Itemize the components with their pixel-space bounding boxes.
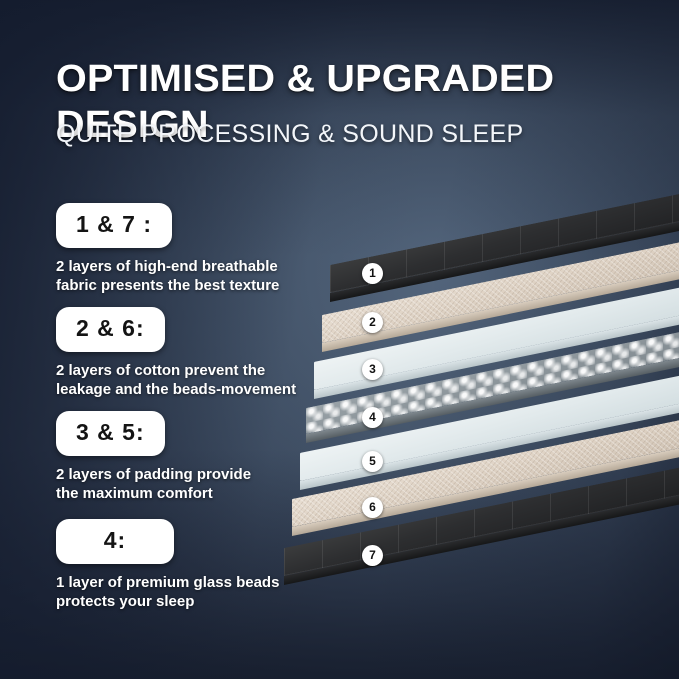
info-block-4-description-line2: protects your sleep xyxy=(56,592,279,611)
info-block-2-description-line2: leakage and the beads-movement xyxy=(56,380,296,399)
info-block-1-description-line1: 2 layers of high-end breathable xyxy=(56,257,279,276)
info-block-2-and-6: 2 & 6: 2 layers of cotton prevent the le… xyxy=(56,307,296,399)
layer-badge-2: 2 xyxy=(362,312,383,333)
layer-badge-3: 3 xyxy=(362,359,383,380)
info-block-1-description: 2 layers of high-end breathable fabric p… xyxy=(56,257,279,295)
info-block-2-description: 2 layers of cotton prevent the leakage a… xyxy=(56,361,296,399)
info-block-3-description: 2 layers of padding provide the maximum … xyxy=(56,465,251,503)
info-block-2-description-line1: 2 layers of cotton prevent the xyxy=(56,361,296,380)
info-block-1-and-7: 1 & 7 : 2 layers of high-end breathable … xyxy=(56,203,279,295)
info-block-4-label: 4: xyxy=(56,519,174,564)
info-block-3-label: 3 & 5: xyxy=(56,411,165,456)
info-block-3-and-5: 3 & 5: 2 layers of padding provide the m… xyxy=(56,411,251,503)
layer-badge-7: 7 xyxy=(362,545,383,566)
layer-badge-6: 6 xyxy=(362,497,383,518)
product-infographic: OPTIMISED & UPGRADED DESIGN QUITE PROCES… xyxy=(0,0,679,679)
layer-badge-4: 4 xyxy=(362,407,383,428)
layer-badge-5: 5 xyxy=(362,451,383,472)
layer-badge-1: 1 xyxy=(362,263,383,284)
info-block-4-description-line1: 1 layer of premium glass beads xyxy=(56,573,279,592)
info-block-4: 4: 1 layer of premium glass beads protec… xyxy=(56,519,279,611)
info-block-2-label: 2 & 6: xyxy=(56,307,165,352)
info-block-1-label: 1 & 7 : xyxy=(56,203,172,248)
info-block-3-description-line1: 2 layers of padding provide xyxy=(56,465,251,484)
info-block-1-description-line2: fabric presents the best texture xyxy=(56,276,279,295)
info-block-3-description-line2: the maximum comfort xyxy=(56,484,251,503)
info-block-4-description: 1 layer of premium glass beads protects … xyxy=(56,573,279,611)
